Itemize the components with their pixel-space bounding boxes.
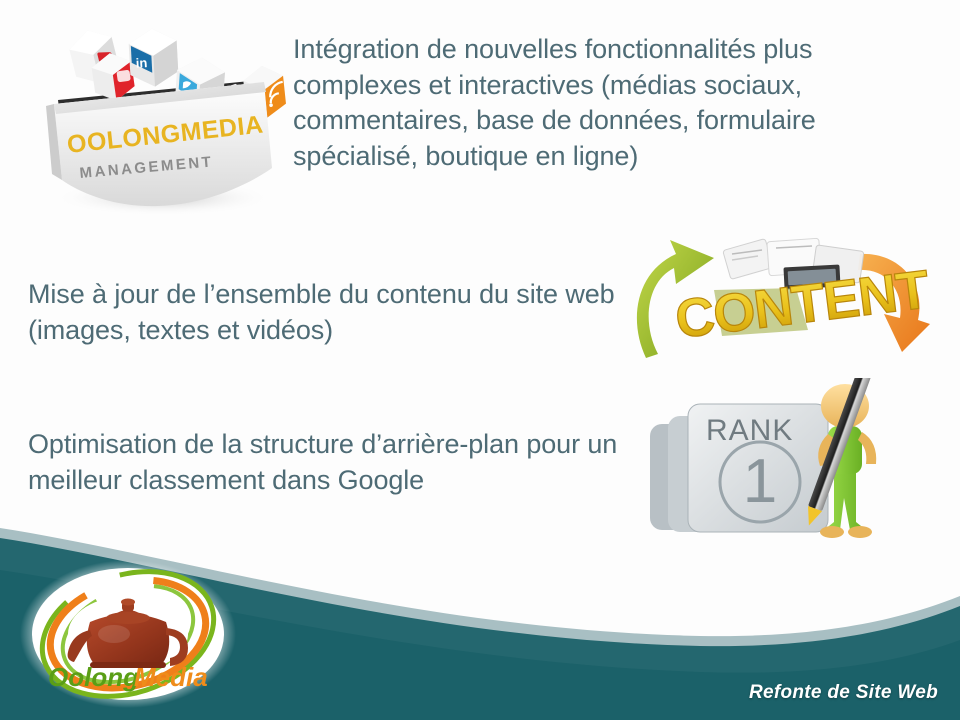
rank-number: 1: [743, 447, 777, 516]
svg-text:in: in: [135, 55, 147, 71]
bullet-text-content-update: Mise à jour de l’ensemble du contenu du …: [28, 277, 628, 348]
cube-linkedin: in: [128, 27, 179, 87]
artwork-rank-graphic: RANK 1: [638, 378, 944, 550]
oolong-media-logo: Oolong Media: [18, 558, 238, 710]
bullet-text-features: Intégration de nouvelles fonctionnalités…: [293, 32, 893, 174]
footer-caption: Refonte de Site Web: [749, 682, 938, 704]
artwork-content-graphic: CONTENT: [618, 232, 944, 374]
logo-word-media: Media: [134, 662, 208, 692]
artwork-social-media-box: in: [28, 8, 290, 220]
bullet-text-seo-optimization: Optimisation de la structure d’arrière-p…: [28, 427, 628, 498]
logo-word-oolong: Oolong: [48, 662, 139, 692]
slide-canvas: in: [0, 0, 960, 720]
